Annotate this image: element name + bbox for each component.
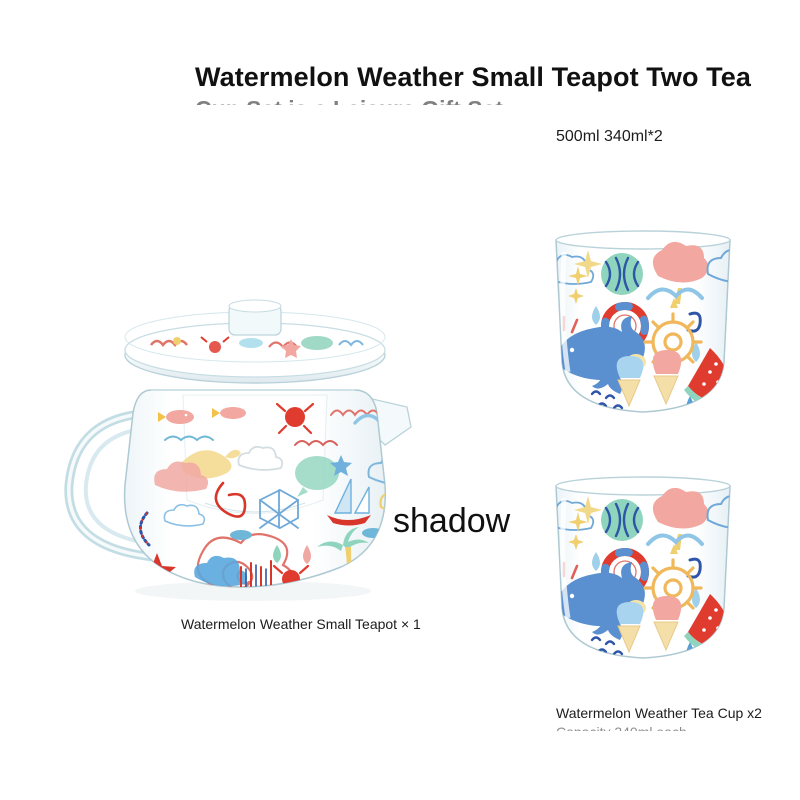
caption-teapot: Watermelon Weather Small Teapot × 1 — [181, 616, 421, 632]
caption-teacup: Watermelon Weather Tea Cup x2 — [556, 705, 762, 721]
teacup-rim-1 — [556, 231, 730, 249]
shell-doodle — [367, 545, 387, 587]
page-title: Watermelon Weather Small Teapot Two Tea — [195, 62, 800, 93]
shadow-label: shadow — [393, 502, 510, 541]
teacup-image-1 — [538, 222, 748, 434]
teapot-image — [55, 295, 435, 615]
sun-doodle — [384, 435, 430, 481]
watermelon-ball-doodle — [601, 253, 643, 295]
teacup-rim-2 — [556, 477, 730, 495]
teapot-lid — [125, 300, 385, 383]
page-subtitle-clipped: Cup Set is a Leisure Gift Set — [195, 96, 800, 105]
product-image-canvas: Watermelon Weather Small Teapot Two Tea … — [0, 0, 800, 800]
teacup-image-2 — [538, 468, 748, 680]
volume-spec: 500ml 340ml*2 — [556, 128, 663, 146]
caption-teacup-clipped: Capacity 340ml each — [556, 724, 800, 731]
watermelon-ball-doodle — [601, 499, 643, 541]
